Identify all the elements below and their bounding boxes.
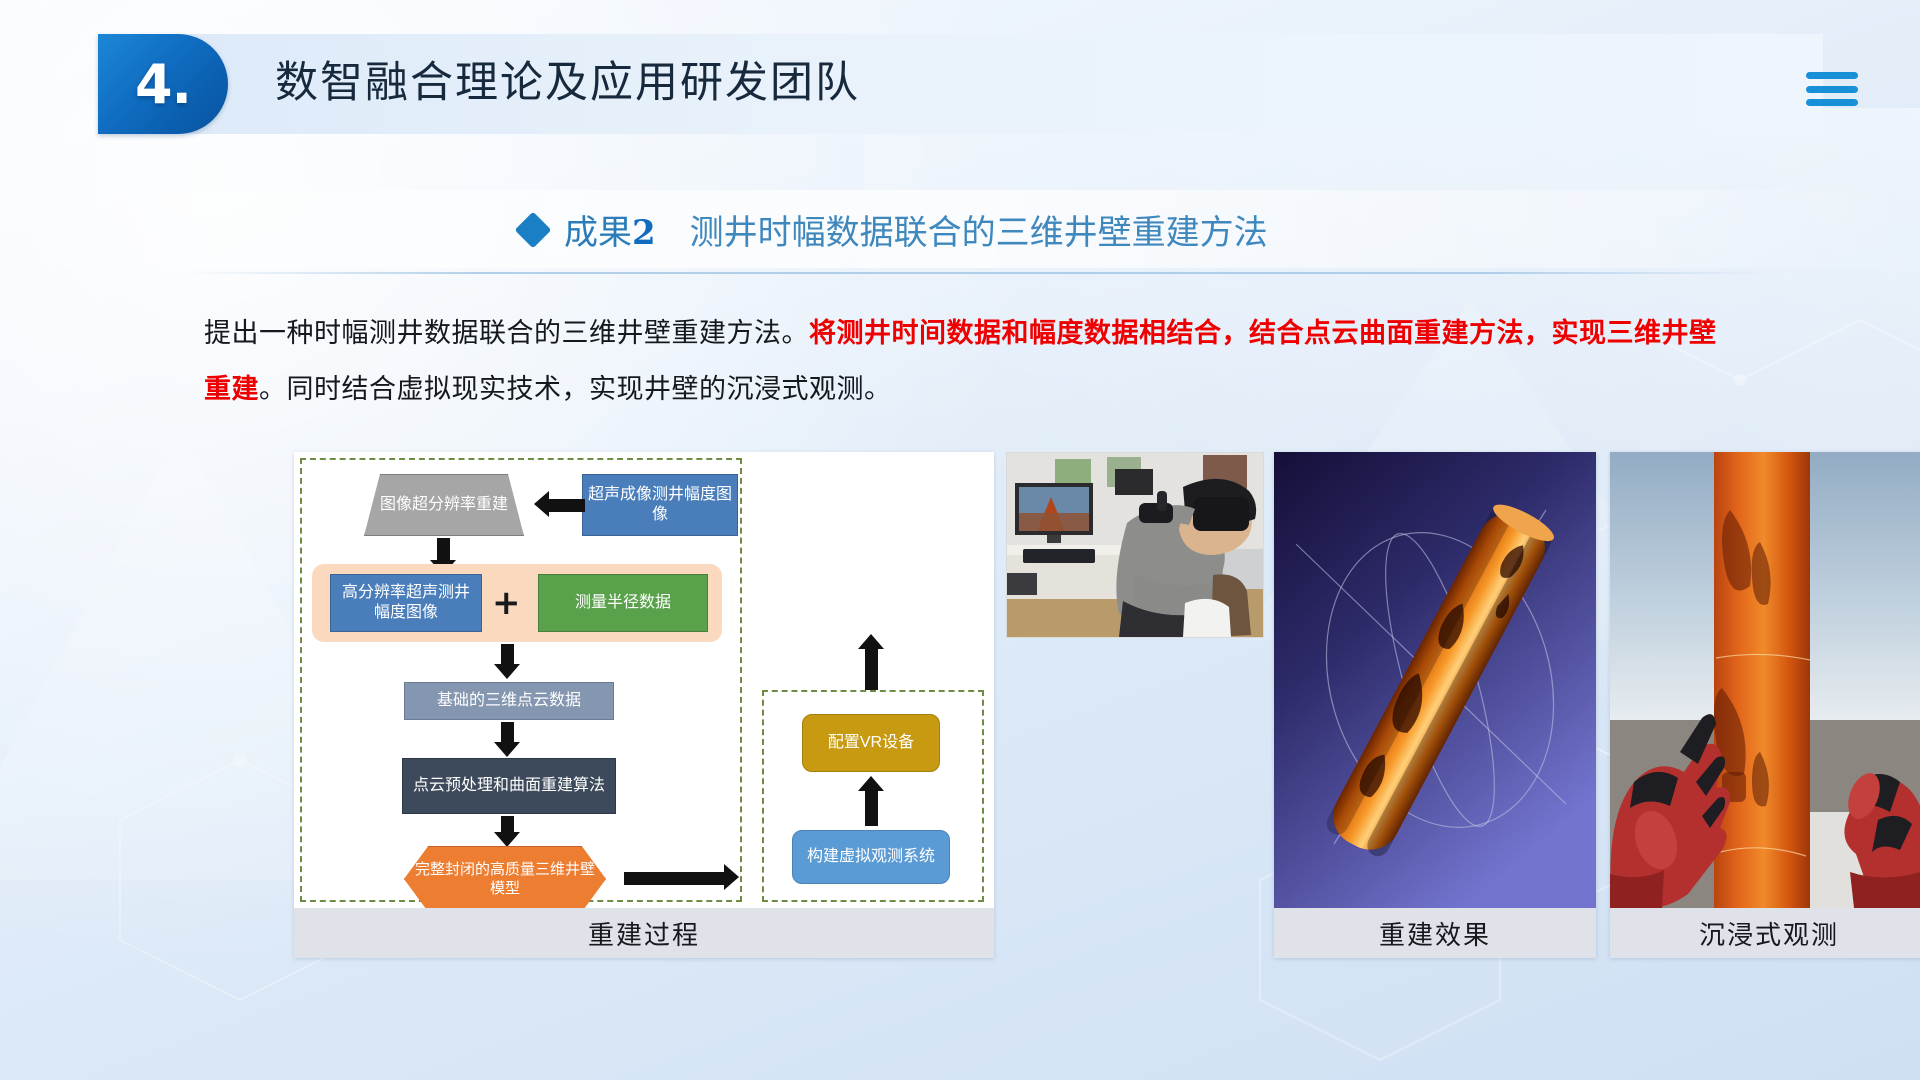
panel-reconstruction-result: 重建效果 xyxy=(1274,452,1596,958)
immersive-vr-scene xyxy=(1610,452,1920,908)
node-sr-reconstruction: 图像超分辨率重建 xyxy=(364,474,524,536)
menu-bar-1 xyxy=(1806,72,1858,79)
node-hires-amplitude-image: 高分辨率超声测井幅度图像 xyxy=(330,574,482,632)
paragraph-segment-3: 。同时结合虚拟现实技术，实现井壁的沉浸式观测。 xyxy=(259,374,892,404)
panel-caption-process: 重建过程 xyxy=(294,908,994,958)
subtitle-divider xyxy=(190,272,1770,274)
plus-symbol: + xyxy=(492,586,521,620)
panel-immersive-observation: 沉浸式观测 xyxy=(1610,452,1920,958)
body-paragraph: 提出一种时幅测井数据联合的三维井壁重建方法。将测井时间数据和幅度数据相结合，结合… xyxy=(204,305,1722,417)
achievement-title: 测井时幅数据联合的三维井壁重建方法 xyxy=(690,205,1268,254)
node-virtual-system: 构建虚拟观测系统 xyxy=(792,830,950,884)
section-number-badge: 4. xyxy=(98,34,228,134)
hamburger-menu-icon[interactable] xyxy=(1806,72,1858,106)
node-pointcloud-algorithm: 点云预处理和曲面重建算法 xyxy=(402,758,616,814)
diamond-bullet-icon xyxy=(515,211,552,248)
node-basic-pointcloud: 基础的三维点云数据 xyxy=(404,682,614,720)
panel-reconstruction-process: 图像超分辨率重建 超声成像测井幅度图像 高分辨率超声测井幅度图像 + 测量半径数… xyxy=(294,452,994,958)
vr-usage-photo xyxy=(1006,452,1264,638)
node-ultrasonic-amplitude-image: 超声成像测井幅度图像 xyxy=(582,474,738,536)
section-number: 4. xyxy=(135,53,191,116)
menu-bar-2 xyxy=(1806,86,1858,93)
menu-bar-3 xyxy=(1806,99,1858,106)
panel-caption-immersive: 沉浸式观测 xyxy=(1610,908,1920,958)
node-radius-data: 测量半径数据 xyxy=(538,574,708,632)
subtitle: 成果2 测井时幅数据联合的三维井壁重建方法 xyxy=(520,205,1268,254)
achievement-label: 成果2 xyxy=(564,205,656,254)
paragraph-segment-1: 提出一种时幅测井数据联合的三维井壁重建方法。 xyxy=(204,318,809,348)
page-title: 数智融合理论及应用研发团队 xyxy=(275,48,860,110)
borehole-render xyxy=(1274,452,1596,908)
figure-row: 图像超分辨率重建 超声成像测井幅度图像 高分辨率超声测井幅度图像 + 测量半径数… xyxy=(294,452,1628,958)
flowchart-body: 图像超分辨率重建 超声成像测井幅度图像 高分辨率超声测井幅度图像 + 测量半径数… xyxy=(294,452,994,908)
panel-caption-result: 重建效果 xyxy=(1274,908,1596,958)
node-vr-device: 配置VR设备 xyxy=(802,714,940,772)
node-closed-model: 完整封闭的高质量三维井壁模型 xyxy=(404,846,606,912)
slide-canvas: 4. 数智融合理论及应用研发团队 成果2 测井时幅数据联合的三维井壁重建方法 提… xyxy=(0,0,1920,1080)
